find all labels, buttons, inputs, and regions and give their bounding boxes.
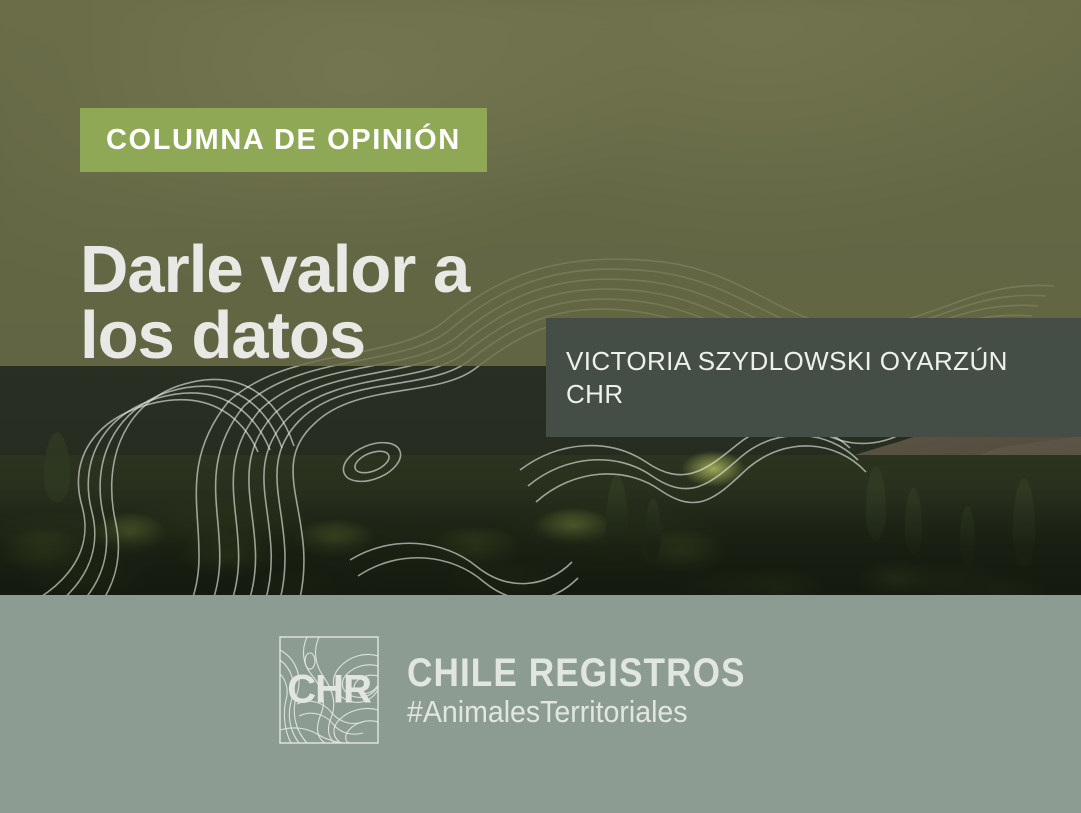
brand-hashtag: #AnimalesTerritoriales (407, 696, 761, 729)
author-organization: CHR (566, 378, 1081, 411)
brand-lockup: CHR CHILE REGISTROS #AnimalesTerritorial… (277, 634, 792, 746)
author-name: VICTORIA SZYDLOWSKI OYARZÚN (566, 345, 1081, 378)
opinion-column-poster: COLUMNA DE OPINIÓN Darle valor a los dat… (0, 0, 1081, 813)
footer-bar: CHR CHILE REGISTROS #AnimalesTerritorial… (0, 595, 1081, 813)
page-title: Darle valor a los datos (80, 237, 600, 368)
author-panel: VICTORIA SZYDLOWSKI OYARZÚN CHR (546, 318, 1081, 437)
brand-name: CHILE REGISTROS (407, 652, 746, 694)
category-badge-label: COLUMNA DE OPINIÓN (106, 126, 461, 155)
headline-line-2: los datos (80, 303, 600, 369)
brand-wordmark: CHILE REGISTROS #AnimalesTerritoriales (407, 652, 792, 729)
logo-initials: CHR (277, 668, 381, 713)
headline-line-1: Darle valor a (80, 237, 600, 303)
chr-logo-icon: CHR (277, 634, 381, 746)
category-badge: COLUMNA DE OPINIÓN (80, 108, 487, 172)
